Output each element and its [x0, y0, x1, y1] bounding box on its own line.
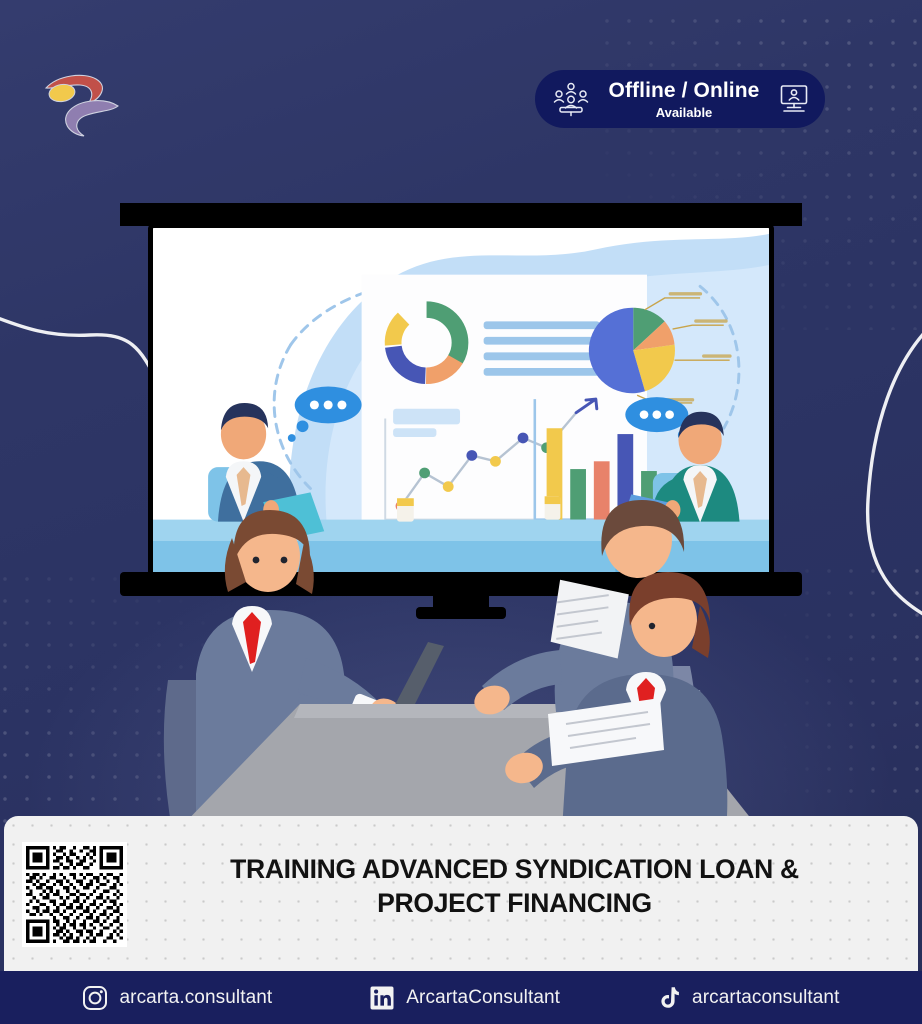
- linkedin-icon: [369, 985, 395, 1011]
- foreground-meeting-scene: [0, 430, 922, 830]
- badge-sub-label: Available: [599, 106, 769, 119]
- instagram-handle: arcarta.consultant: [119, 987, 272, 1009]
- video-conference-monitor-icon: [777, 82, 811, 116]
- poster-canvas: Offline / Online Available: [0, 0, 922, 1024]
- qr-code[interactable]: [22, 842, 127, 947]
- qr-code-graphic: [26, 846, 123, 943]
- arcarta-swoosh-logo[interactable]: [40, 66, 124, 144]
- social-link-tiktok[interactable]: arcartaconsultant: [657, 985, 839, 1011]
- title-line-1: TRAINING ADVANCED SYNDICATION LOAN &: [139, 852, 890, 886]
- info-card: TRAINING ADVANCED SYNDICATION LOAN & PRO…: [4, 816, 918, 971]
- social-footer: arcarta.consultant ArcartaConsultant arc…: [0, 971, 922, 1024]
- social-link-instagram[interactable]: arcarta.consultant: [82, 985, 272, 1011]
- badge-main-label: Offline / Online: [599, 80, 769, 101]
- badge-text-block: Offline / Online Available: [599, 80, 769, 119]
- page-title: TRAINING ADVANCED SYNDICATION LOAN & PRO…: [139, 852, 890, 921]
- title-line-2: PROJECT FINANCING: [139, 886, 890, 920]
- social-link-linkedin[interactable]: ArcartaConsultant: [369, 985, 560, 1011]
- tiktok-icon: [657, 985, 681, 1011]
- meeting-group-icon: [551, 81, 591, 117]
- instagram-icon: [82, 985, 108, 1011]
- tiktok-handle: arcartaconsultant: [692, 987, 839, 1009]
- availability-badge[interactable]: Offline / Online Available: [535, 70, 825, 128]
- linkedin-handle: ArcartaConsultant: [406, 987, 560, 1009]
